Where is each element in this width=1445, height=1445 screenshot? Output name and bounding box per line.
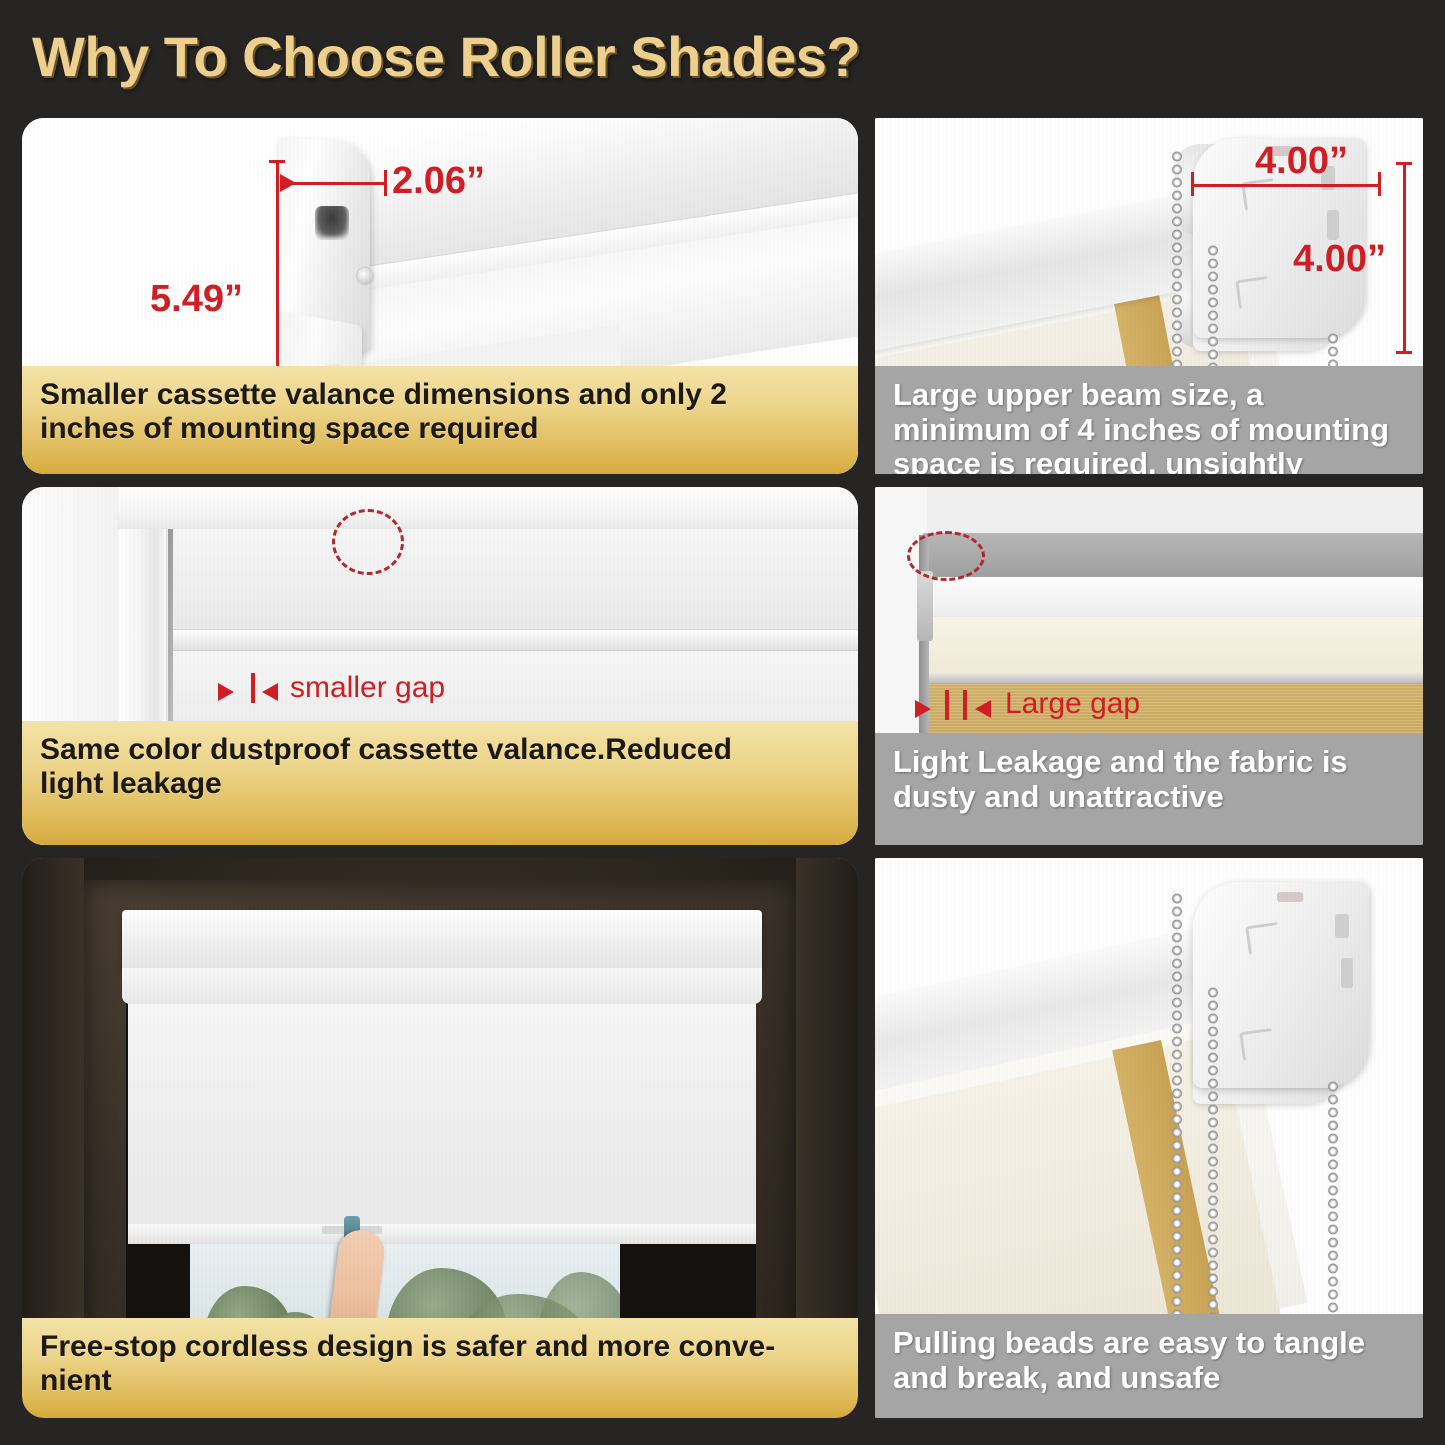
beam-width-dimension-label: 4.00”: [1255, 140, 1348, 183]
bracket-arrow-icon: [1245, 922, 1283, 956]
gap-highlight-circle: [332, 509, 404, 575]
gap-arrow-right: [975, 700, 991, 718]
panel-cassette-valance: 2.06” 5.49” Smaller cassette valance dim…: [22, 118, 858, 474]
gap-arrow-left: [915, 700, 931, 718]
large-gap-label: Large gap: [1005, 687, 1140, 721]
bead-chain-middle[interactable]: [1207, 986, 1219, 1322]
panel-pulling-beads: Pulling beads are easy to tangle and bre…: [875, 858, 1423, 1418]
bead-chain-right: [1207, 244, 1219, 378]
beam-height-dimension-label: 4.00”: [1293, 238, 1386, 281]
panel-smaller-gap: smaller gap Same color dustproof cassett…: [22, 487, 858, 845]
caption-cassette-valance: Smaller cassette valance dimensions and …: [22, 366, 858, 474]
bead-chain-right[interactable]: [1327, 1080, 1339, 1322]
caption-large-gap: Light Leakage and the fabric is dusty an…: [875, 733, 1423, 845]
panel-cordless-design: Free-stop cordless design is safer and m…: [22, 858, 858, 1418]
caption-cordless-design: Free-stop cordless design is safer and m…: [22, 1318, 858, 1418]
gap-arrow-left: [218, 683, 234, 701]
valance-screw: [357, 268, 373, 284]
valance-slot: [315, 206, 349, 240]
panel-large-upper-beam: 4.00” 4.00” Large upper beam size, a min…: [875, 118, 1423, 474]
caption-large-upper-beam: Large upper beam size, a minimum of 4 in…: [875, 366, 1423, 474]
caption-smaller-gap: Same color dustproof cassette valance.Re…: [22, 721, 858, 845]
infographic-page: Why To Choose Roller Shades? 2.06” 5.49”: [0, 0, 1445, 1445]
bead-chain-left: [1171, 150, 1183, 378]
smaller-gap-label: smaller gap: [290, 671, 445, 705]
caption-pulling-beads: Pulling beads are easy to tangle and bre…: [875, 1314, 1423, 1418]
bead-chain-left[interactable]: [1171, 892, 1183, 1322]
bracket-arrow-icon-lower: [1235, 276, 1273, 310]
height-dimension-label: 5.49”: [150, 278, 243, 321]
page-title: Why To Choose Roller Shades?: [32, 24, 860, 89]
gap-highlight-circle: [907, 531, 985, 581]
panel-large-gap: Large gap Light Leakage and the fabric i…: [875, 487, 1423, 845]
bracket-arrow-icon-lower: [1239, 1028, 1277, 1062]
width-dimension-label: 2.06”: [392, 160, 485, 203]
gap-arrow-right: [262, 683, 278, 701]
